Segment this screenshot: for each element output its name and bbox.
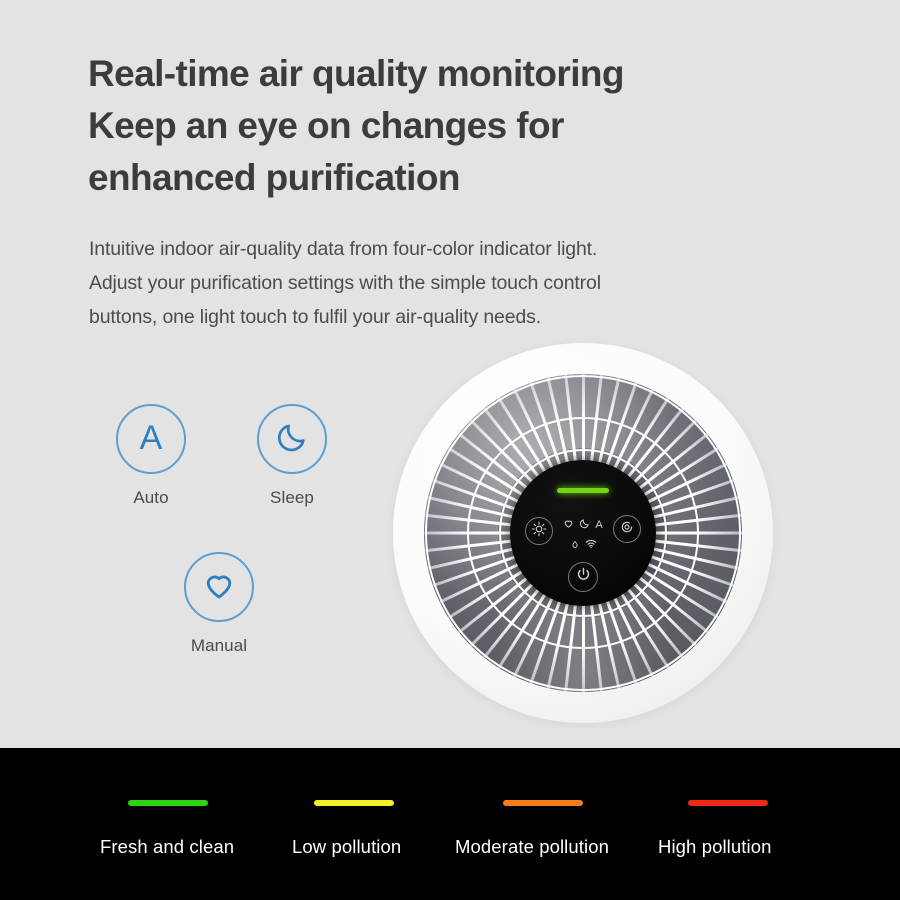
wifi-icon [585, 537, 597, 555]
legend-label: Moderate pollution [455, 836, 609, 858]
fan-speed-button[interactable] [613, 515, 641, 543]
power-icon [575, 566, 592, 588]
mode-sleep-label: Sleep [257, 488, 327, 508]
mode-auto-ring: A [116, 404, 186, 474]
legend-color-bar-moderate [503, 800, 583, 806]
air-purifier-device: A [393, 343, 773, 723]
heart-icon [201, 567, 237, 608]
control-panel: A [510, 460, 656, 606]
legend-item: Fresh and clean [100, 800, 234, 858]
page-description: Intuitive indoor air-quality data from f… [89, 232, 769, 334]
air-purifier-feature-page: Real-time air quality monitoring Keep an… [0, 0, 900, 900]
sleep-mode-indicator [579, 516, 590, 534]
legend-item: High pollution [658, 800, 772, 858]
mode-sleep[interactable]: Sleep [257, 404, 327, 508]
fan-speed-icon [619, 519, 635, 540]
page-title: Real-time air quality monitoring Keep an… [88, 48, 788, 204]
mode-manual[interactable]: Manual [184, 552, 254, 656]
legend-color-bar-low [314, 800, 394, 806]
mode-manual-label: Manual [184, 636, 254, 656]
moon-icon [275, 420, 309, 459]
air-quality-indicator-bar [557, 488, 609, 493]
status-indicator-cluster: A [554, 516, 612, 555]
filter-drop-icon [570, 537, 580, 555]
letter-a-icon: A [140, 421, 163, 455]
auto-mode-indicator: A [595, 520, 602, 531]
air-quality-legend: Fresh and clean Low pollution Moderate p… [0, 748, 900, 900]
legend-item: Low pollution [292, 800, 401, 858]
status-row-bottom [570, 537, 597, 555]
mode-sleep-ring [257, 404, 327, 474]
legend-label: High pollution [658, 836, 772, 858]
legend-color-bar-fresh [128, 800, 208, 806]
mode-manual-ring [184, 552, 254, 622]
legend-item: Moderate pollution [455, 800, 609, 858]
description-line-3: buttons, one light touch to fulfil your … [89, 300, 769, 334]
headline-line-1: Real-time air quality monitoring [88, 48, 788, 100]
mode-auto[interactable]: A Auto [116, 404, 186, 508]
legend-color-bar-high [688, 800, 768, 806]
brightness-icon [531, 521, 547, 542]
headline-line-3: enhanced purification [88, 152, 788, 204]
manual-mode-indicator [563, 516, 574, 534]
status-row-top: A [563, 516, 602, 534]
power-button[interactable] [568, 562, 598, 592]
description-line-1: Intuitive indoor air-quality data from f… [89, 232, 769, 266]
description-line-2: Adjust your purification settings with t… [89, 266, 769, 300]
legend-label: Low pollution [292, 836, 401, 858]
legend-label: Fresh and clean [100, 836, 234, 858]
mode-auto-label: Auto [116, 488, 186, 508]
brightness-button[interactable] [525, 517, 553, 545]
headline-line-2: Keep an eye on changes for [88, 100, 788, 152]
